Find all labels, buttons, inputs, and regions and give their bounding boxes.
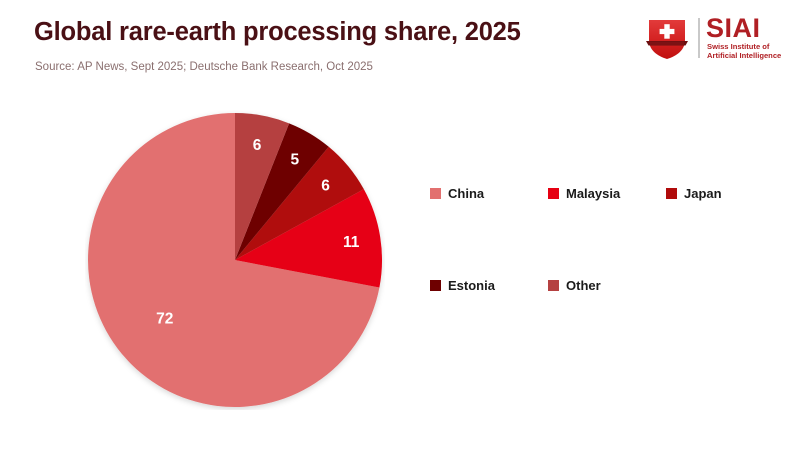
- legend-swatch-icon: [666, 188, 677, 199]
- legend-swatch-icon: [548, 188, 559, 199]
- legend-label: China: [448, 186, 484, 201]
- legend-swatch-icon: [548, 280, 559, 291]
- pie-label-japan: 6: [321, 178, 330, 195]
- legend-item-estonia[interactable]: Estonia: [430, 278, 548, 293]
- legend-label: Malaysia: [566, 186, 620, 201]
- legend-label: Other: [566, 278, 601, 293]
- pie-label-china: 72: [156, 311, 173, 328]
- legend-item-japan[interactable]: Japan: [666, 186, 776, 201]
- pie-label-malaysia: 11: [343, 234, 360, 251]
- chart-legend: ChinaMalaysiaJapanEstoniaOther: [430, 186, 780, 293]
- source-caption: Source: AP News, Sept 2025; Deutsche Ban…: [35, 61, 373, 73]
- legend-swatch-icon: [430, 188, 441, 199]
- legend-item-china[interactable]: China: [430, 186, 548, 201]
- logo-tagline-line1: Swiss Institute of: [707, 42, 787, 51]
- legend-item-other[interactable]: Other: [548, 278, 666, 293]
- logo-wordmark: SIAI: [706, 14, 761, 42]
- swiss-cross-shield-icon: [644, 15, 690, 61]
- pie-slices-group: [88, 113, 382, 407]
- pie-label-other: 6: [253, 137, 262, 154]
- logo-tagline-line2: Artificial Intelligence: [707, 51, 787, 60]
- page-title: Global rare-earth processing share, 2025: [34, 18, 521, 47]
- chart-header: Global rare-earth processing share, 2025…: [0, 0, 800, 92]
- pie-chart: 7211656: [85, 110, 385, 410]
- pie-label-estonia: 5: [291, 151, 300, 168]
- logo-tagline: Swiss Institute of Artificial Intelligen…: [707, 42, 787, 61]
- siai-logo: SIAI Swiss Institute of Artificial Intel…: [636, 14, 786, 62]
- legend-item-malaysia[interactable]: Malaysia: [548, 186, 666, 201]
- legend-swatch-icon: [430, 280, 441, 291]
- legend-label: Estonia: [448, 278, 495, 293]
- logo-divider: [698, 18, 700, 58]
- legend-label: Japan: [684, 186, 722, 201]
- pie-chart-svg: 7211656: [85, 110, 385, 410]
